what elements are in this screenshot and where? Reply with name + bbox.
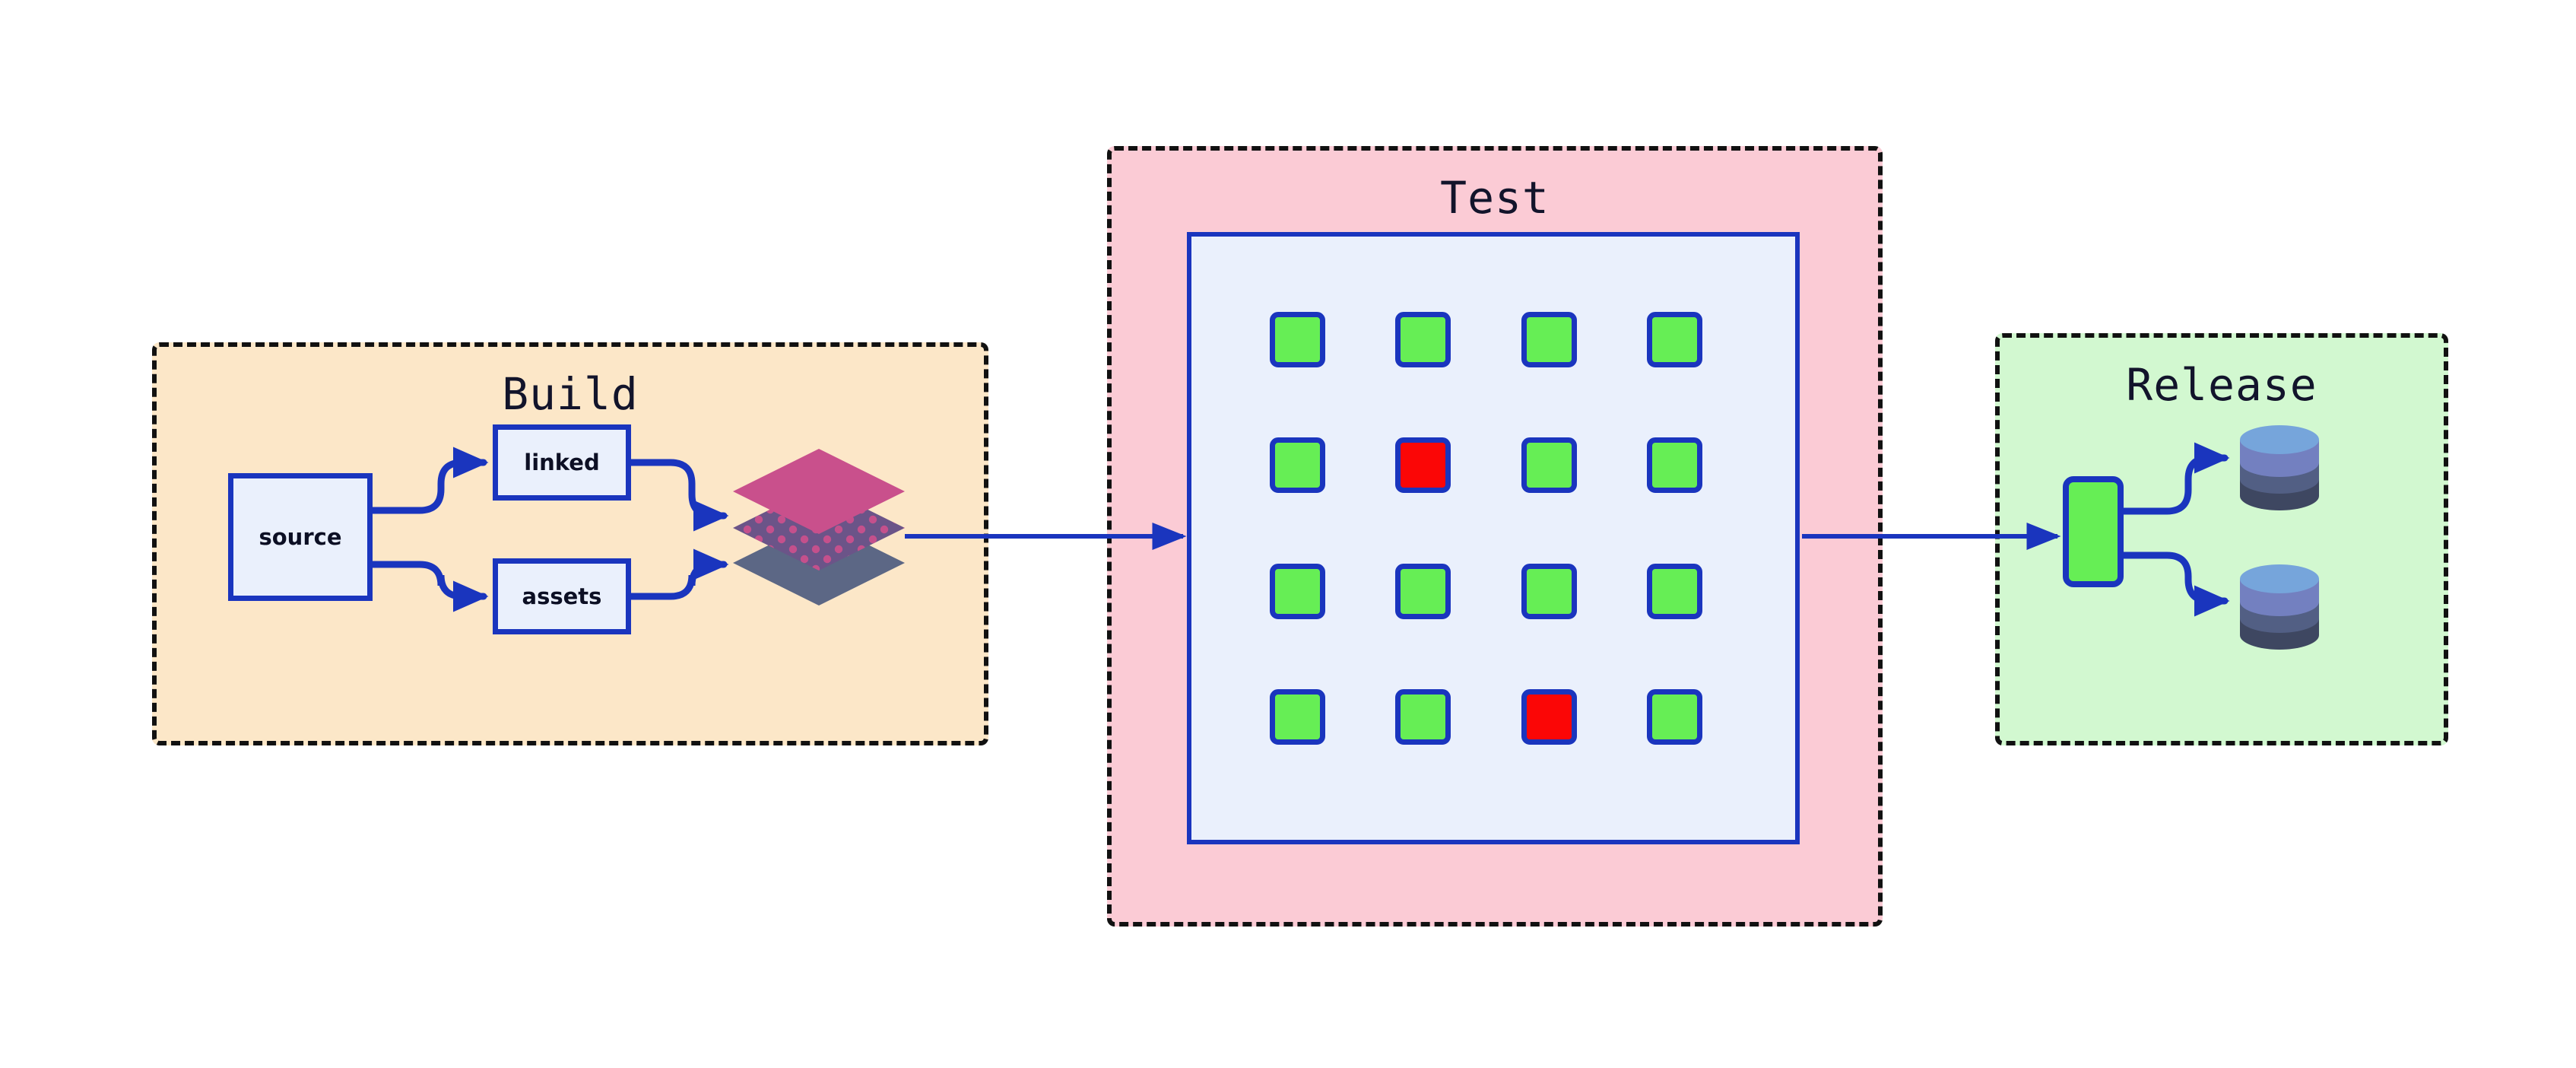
node-assets[interactable]: assets (493, 558, 631, 634)
test-cell[interactable] (1395, 312, 1451, 367)
node-release-artifact[interactable] (2063, 476, 2124, 587)
test-cell[interactable] (1395, 564, 1451, 619)
test-cell[interactable] (1270, 689, 1325, 745)
node-linked-label: linked (524, 450, 599, 475)
test-cell[interactable] (1521, 312, 1577, 367)
test-cell[interactable] (1647, 437, 1702, 493)
test-cell-failed[interactable] (1395, 437, 1451, 493)
stage-release-title: Release (2000, 359, 2444, 411)
test-cell[interactable] (1270, 312, 1325, 367)
node-source-label: source (259, 524, 342, 550)
test-cell[interactable] (1270, 437, 1325, 493)
test-results-grid (1270, 312, 1717, 759)
diagram-canvas: Build source linked assets Test Release (0, 0, 2576, 1068)
stage-build-title: Build (157, 368, 984, 420)
node-assets-label: assets (522, 583, 602, 609)
test-cell[interactable] (1270, 564, 1325, 619)
test-cell[interactable] (1395, 689, 1451, 745)
test-cell[interactable] (1647, 312, 1702, 367)
test-cell[interactable] (1647, 689, 1702, 745)
node-linked[interactable]: linked (493, 424, 631, 501)
test-cell[interactable] (1647, 564, 1702, 619)
stage-test-title: Test (1112, 172, 1878, 224)
test-cell[interactable] (1521, 564, 1577, 619)
node-source[interactable]: source (228, 473, 373, 601)
test-cell-failed[interactable] (1521, 689, 1577, 745)
test-cell[interactable] (1521, 437, 1577, 493)
